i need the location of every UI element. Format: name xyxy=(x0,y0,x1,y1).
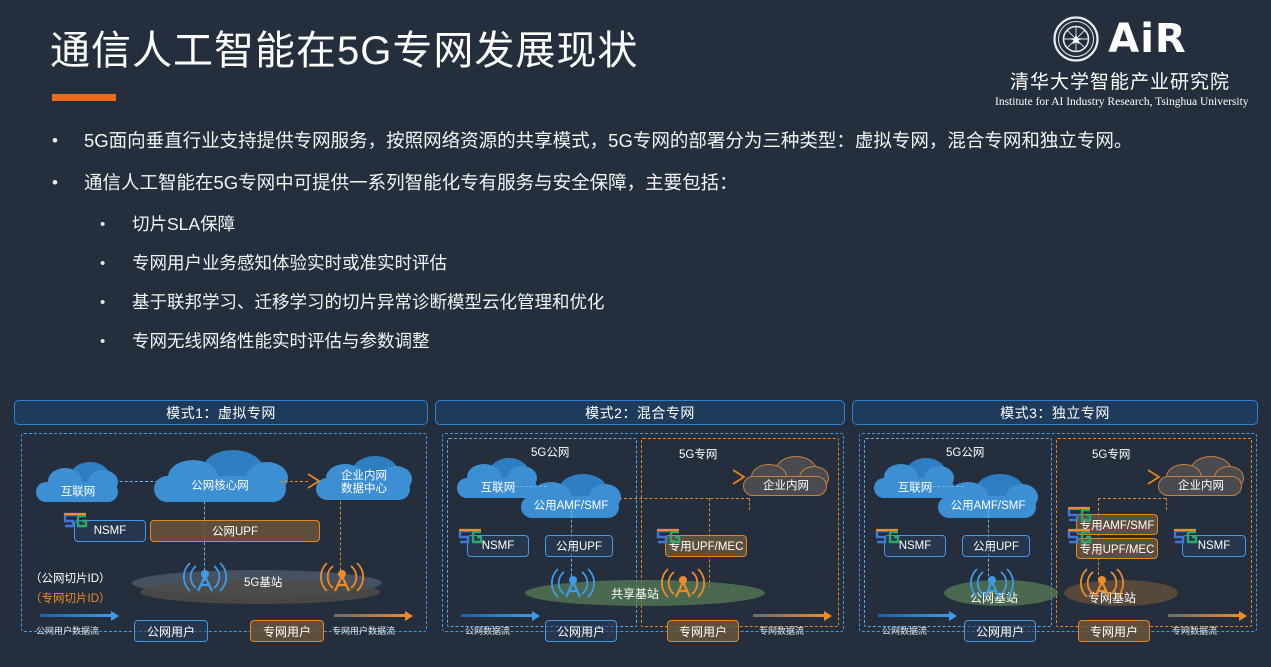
box-public-upf[interactable]: 公网UPF xyxy=(150,520,320,542)
logo-chinese-name: 清华大学智能产业研究院 xyxy=(995,67,1245,94)
cloud-label: 企业内网 xyxy=(1156,480,1246,493)
box-private-user[interactable]: 专网用户 xyxy=(667,620,739,642)
5g-badge-icon xyxy=(457,528,483,546)
box-label: NSMF xyxy=(1198,540,1231,552)
tsinghua-seal-icon xyxy=(1053,16,1099,62)
sub-bullet-list: • 切片SLA保障 • 专网用户业务感知体验实时或准实时评估 • 基于联邦学习、… xyxy=(100,212,1232,354)
bullet-marker: • xyxy=(52,128,84,153)
box-label: 公网UPF xyxy=(212,523,258,539)
box-private-user[interactable]: 专网用户 xyxy=(250,620,324,642)
box-label: 公用UPF xyxy=(556,538,602,554)
flow-arrow-private xyxy=(1168,614,1240,617)
flow-arrow-public xyxy=(461,614,533,617)
connector-private-enterprise xyxy=(1098,498,1166,499)
bullet-marker: • xyxy=(100,329,132,354)
box-label: 公网用户 xyxy=(147,623,195,640)
box-label: 公用UPF xyxy=(973,538,1019,554)
air-logo: AiR 清华大学智能产业研究院 Institute for AI Industr… xyxy=(995,14,1245,108)
air-wordmark: AiR xyxy=(1108,19,1186,59)
connector-enterprise-vertical xyxy=(1166,498,1167,510)
cloud-label: 公网核心网 xyxy=(150,480,290,493)
flow-label-private: 专网数据流 xyxy=(759,624,804,637)
flow-arrow-private xyxy=(753,614,825,617)
sub-bullet-text: 专网无线网络性能实时评估与参数调整 xyxy=(132,329,430,354)
base-station-private-icon xyxy=(314,560,370,594)
cloud-label: 互联网 xyxy=(872,482,958,495)
bullet-text: 通信人工智能在5G专网中可提供一系列智能化专有服务与安全保障，主要包括： xyxy=(84,170,738,196)
cloud-label: 企业内网 xyxy=(314,470,414,483)
5g-badge-icon xyxy=(1172,528,1198,546)
cloud-label: 公用AMF/SMF xyxy=(936,500,1040,513)
base-station-private-icon xyxy=(1074,566,1130,600)
cloud-enterprise-intranet-datacenter: 企业内网 数据中心 xyxy=(314,456,414,500)
bullet-marker: • xyxy=(100,212,132,237)
cloud-public-amf-smf: 公用AMF/SMF xyxy=(519,474,623,518)
panel-mode3-header: 模式3：独立专网 xyxy=(852,400,1258,425)
sub-bullet-text: 专网用户业务感知体验实时或准实时评估 xyxy=(132,251,447,276)
panel-mode3-body: 5G公网 5G专网 互联网 公用AMF/SMF xyxy=(859,433,1257,632)
flow-label-private: 专网用户数据流 xyxy=(332,624,395,637)
cloud-label: 公用AMF/SMF xyxy=(519,500,623,513)
connector-enterprise-vertical xyxy=(749,498,750,510)
bullet-item: • 通信人工智能在5G专网中可提供一系列智能化专有服务与安全保障，主要包括： xyxy=(52,170,1232,196)
sub-bullet-text: 切片SLA保障 xyxy=(132,212,235,237)
bullet-marker: • xyxy=(100,290,132,315)
box-private-user[interactable]: 专网用户 xyxy=(1078,620,1150,642)
flow-label-public: 公网数据流 xyxy=(465,624,510,637)
flow-label-public: 公网数据流 xyxy=(882,624,927,637)
panel-mode1-header: 模式1：虚拟专网 xyxy=(14,400,428,425)
box-label: 专网用户 xyxy=(679,623,727,640)
box-public-upf[interactable]: 公用UPF xyxy=(962,535,1030,557)
flow-arrow-private xyxy=(334,614,406,617)
5g-badge-icon xyxy=(655,528,681,546)
5g-badge-icon xyxy=(1066,528,1092,546)
bullet-marker: • xyxy=(100,251,132,276)
cloud-public-amf-smf: 公用AMF/SMF xyxy=(936,474,1040,518)
panel-mode3: 模式3：独立专网 5G公网 5G专网 互联网 公用AMF/SMF xyxy=(852,400,1258,632)
page-title: 通信人工智能在5G专网发展现状 xyxy=(50,18,638,76)
flow-arrow-public xyxy=(40,614,112,617)
box-label: NSMF xyxy=(482,540,515,552)
panel-mode2: 模式2：混合专网 5G公网 5G专网 互联网 公用AMF/SMF xyxy=(435,400,845,632)
bullet-text: 5G面向垂直行业支持提供专网服务，按照网络资源的共享模式，5G专网的部署分为三种… xyxy=(84,128,1132,154)
region-label-private: 5G专网 xyxy=(679,446,717,462)
bullet-list: • 5G面向垂直行业支持提供专网服务，按照网络资源的共享模式，5G专网的部署分为… xyxy=(52,128,1232,368)
cloud-enterprise-intranet: 企业内网 xyxy=(1156,456,1246,496)
base-station-public-icon xyxy=(964,566,1020,600)
box-public-user[interactable]: 公网用户 xyxy=(134,620,208,642)
flow-label-private: 专网数据流 xyxy=(1172,624,1217,637)
box-public-upf[interactable]: 公用UPF xyxy=(545,535,613,557)
5g-badge-icon xyxy=(62,512,88,530)
bullet-item: • 5G面向垂直行业支持提供专网服务，按照网络资源的共享模式，5G专网的部署分为… xyxy=(52,128,1232,154)
cloud-label: 互联网 xyxy=(455,482,541,495)
cloud-enterprise-intranet: 企业内网 xyxy=(741,456,831,496)
5g-badge-icon xyxy=(874,528,900,546)
5g-badge-icon xyxy=(1066,506,1092,524)
sub-bullet-item: • 专网用户业务感知体验实时或准实时评估 xyxy=(100,251,1232,276)
station-label: 共享基站 xyxy=(611,585,659,602)
box-label: 专网用户 xyxy=(263,623,311,640)
flow-label-public: 公网用户数据流 xyxy=(36,624,99,637)
panel-mode1: 模式1：虚拟专网 互联网 公网核心网 xyxy=(14,400,428,632)
base-station-private-icon xyxy=(655,566,711,600)
box-label: 专网用户 xyxy=(1090,623,1138,640)
base-station-public-icon xyxy=(177,560,233,594)
sub-bullet-text: 基于联邦学习、迁移学习的切片异常诊断模型云化管理和优化 xyxy=(132,290,605,315)
label-private-slice-id: （专网切片ID） xyxy=(30,590,111,606)
box-label: 公网用户 xyxy=(557,623,605,640)
box-label: NSMF xyxy=(94,525,127,537)
sub-bullet-item: • 基于联邦学习、迁移学习的切片异常诊断模型云化管理和优化 xyxy=(100,290,1232,315)
cloud-label-line2: 数据中心 xyxy=(314,483,414,496)
cloud-internet: 互联网 xyxy=(34,462,122,502)
logo-english-name: Institute for AI Industry Research, Tsin… xyxy=(995,96,1245,108)
box-label: 公网用户 xyxy=(976,623,1024,640)
title-underline-rule xyxy=(52,94,116,101)
panel-mode2-body: 5G公网 5G专网 互联网 公用AMF/SMF xyxy=(442,433,844,632)
panel-mode1-body: 互联网 公网核心网 企业内网 数据中心 xyxy=(21,433,427,632)
flow-arrow-public xyxy=(878,614,950,617)
bullet-marker: • xyxy=(52,170,84,195)
box-public-user[interactable]: 公网用户 xyxy=(964,620,1036,642)
panel-mode2-header: 模式2：混合专网 xyxy=(435,400,845,425)
cloud-public-core-network: 公网核心网 xyxy=(150,450,290,502)
box-label: NSMF xyxy=(899,540,932,552)
label-public-slice-id: （公网切片ID） xyxy=(30,570,111,586)
diagram-panels: 模式1：虚拟专网 互联网 公网核心网 xyxy=(14,400,1259,632)
sub-bullet-item: • 专网无线网络性能实时评估与参数调整 xyxy=(100,329,1232,354)
connector-core-enterprise xyxy=(619,498,749,499)
sub-bullet-item: • 切片SLA保障 xyxy=(100,212,1232,237)
station-label: 5G基站 xyxy=(244,574,282,590)
base-station-public-icon xyxy=(545,566,601,600)
box-public-user[interactable]: 公网用户 xyxy=(545,620,617,642)
cloud-label: 企业内网 xyxy=(741,480,831,493)
cloud-label: 互联网 xyxy=(34,486,122,499)
region-label-private: 5G专网 xyxy=(1092,446,1130,462)
